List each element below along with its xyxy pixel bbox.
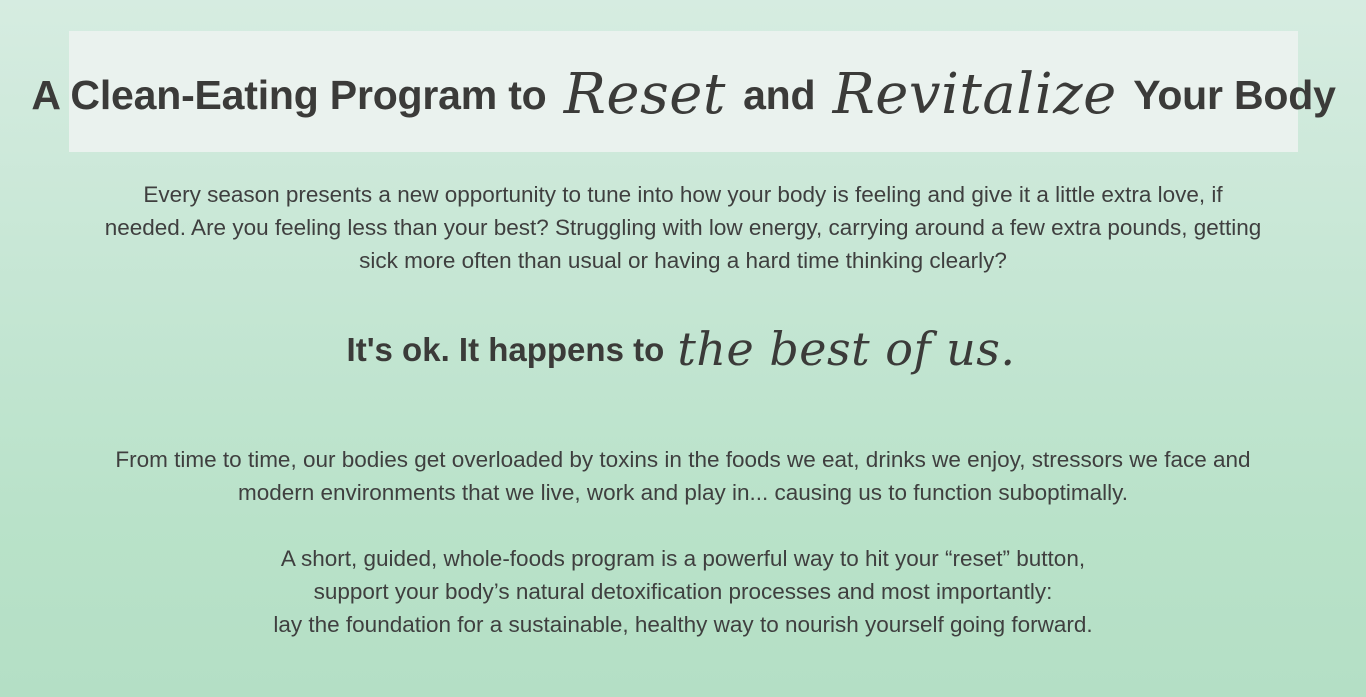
mid-statement-bold: It's ok. It happens to — [347, 331, 674, 368]
closing-line-2: support your body’s natural detoxificati… — [110, 575, 1256, 608]
headline-script-revitalize: Revitalize — [827, 62, 1123, 127]
page-title: A Clean-Eating Program to Reset and Revi… — [31, 66, 1335, 116]
closing-paragraph: A short, guided, whole-foods program is … — [0, 542, 1366, 641]
toxins-paragraph: From time to time, our bodies get overlo… — [0, 443, 1366, 509]
headline-text-part-3: Your Body — [1123, 72, 1336, 118]
intro-paragraph: Every season presents a new opportunity … — [0, 178, 1366, 277]
promo-page: A Clean-Eating Program to Reset and Revi… — [0, 0, 1366, 697]
headline-text-part-2: and — [732, 72, 827, 118]
closing-line-1: A short, guided, whole-foods program is … — [110, 542, 1256, 575]
closing-line-3: lay the foundation for a sustainable, he… — [110, 608, 1256, 641]
headline-text-part-1: A Clean-Eating Program to — [31, 72, 557, 118]
headline-banner: A Clean-Eating Program to Reset and Revi… — [69, 31, 1298, 152]
mid-statement: It's ok. It happens to the best of us. — [0, 325, 1366, 366]
mid-statement-script: the best of us. — [673, 322, 1019, 376]
headline-script-reset: Reset — [558, 62, 732, 127]
